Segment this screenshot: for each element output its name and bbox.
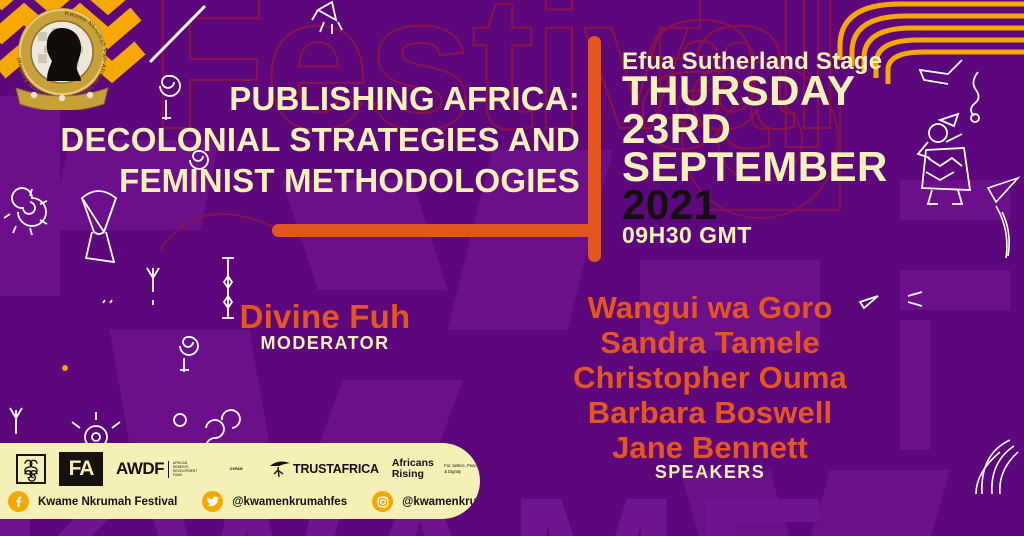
sponsor-logo-row: FA AWDF AFRICAN WOMEN'S DEVELOPMENT FUND… xyxy=(16,452,480,486)
title-line-3: FEMINIST METHODOLOGIES xyxy=(40,160,580,201)
footer-bar: FA AWDF AFRICAN WOMEN'S DEVELOPMENT FUND… xyxy=(0,443,480,519)
sponsor-trustafrica-logo: TRUSTAFRICA xyxy=(269,453,379,485)
speaker-name: Sandra Tamele xyxy=(520,325,900,360)
adinkra-icon xyxy=(16,454,46,484)
social-handle-row: Kwame Nkrumah Festival @kwamenkrumahfes … xyxy=(8,491,480,512)
speakers-role-label: SPEAKERS xyxy=(520,462,900,483)
divider-horizontal xyxy=(272,224,600,237)
title-line-2: DECOLONIAL STRATEGIES AND xyxy=(40,119,580,160)
sponsor-oxfam-logo: OXFAM xyxy=(216,453,256,485)
africans-rising-logo-text: Africans Rising xyxy=(392,458,444,480)
sponsor-adinkra-logo xyxy=(16,453,46,485)
sponsor-africans-rising-logo: Africans Rising For Justice, Peace & Dig… xyxy=(392,453,480,485)
instagram-handle[interactable]: @kwamenkrumahfestival xyxy=(402,496,480,508)
event-year: 2021 xyxy=(622,186,888,224)
sponsor-awdf-logo: AWDF AFRICAN WOMEN'S DEVELOPMENT FUND xyxy=(116,453,203,485)
speaker-name: Christopher Ouma xyxy=(520,360,900,395)
facebook-handle[interactable]: Kwame Nkrumah Festival xyxy=(38,496,177,508)
event-time: 09H30 GMT xyxy=(622,222,752,249)
instagram-icon[interactable] xyxy=(372,491,393,512)
awdf-divider xyxy=(168,461,169,478)
speakers-list: Wangui wa Goro Sandra Tamele Christopher… xyxy=(520,290,900,465)
moderator-role-label: MODERATOR xyxy=(160,333,490,354)
speaker-name: Wangui wa Goro xyxy=(520,290,900,325)
trustafrica-logo-text: TRUSTAFRICA xyxy=(293,462,379,476)
twitter-handle[interactable]: @kwamenkrumahfes xyxy=(232,496,347,508)
africans-rising-logo-subtitle: For Justice, Peace & Dignity xyxy=(444,463,480,475)
speaker-name: Barbara Boswell xyxy=(520,395,900,430)
awdf-logo-subtitle: AFRICAN WOMEN'S DEVELOPMENT FUND xyxy=(173,461,203,477)
page-title: PUBLISHING AFRICA: DECOLONIAL STRATEGIES… xyxy=(40,78,580,201)
fa-logo-text: FA xyxy=(59,452,103,486)
facebook-icon[interactable] xyxy=(8,491,29,512)
twitter-icon[interactable] xyxy=(202,491,223,512)
oxfam-logo-text: OXFAM xyxy=(216,467,256,471)
event-date: THURSDAY 23RD SEPTEMBER 2021 xyxy=(622,72,888,224)
moderator-name: Divine Fuh xyxy=(160,298,490,336)
awdf-logo-text: AWDF xyxy=(116,459,164,479)
acacia-tree-icon xyxy=(269,460,291,478)
sponsor-fa-logo: FA xyxy=(59,453,103,485)
speaker-name: Jane Bennett xyxy=(520,430,900,465)
event-poster: Festival al KWAME NKRUMAH xyxy=(0,0,1024,536)
title-line-1: PUBLISHING AFRICA: xyxy=(40,78,580,119)
divider-vertical xyxy=(588,36,601,262)
